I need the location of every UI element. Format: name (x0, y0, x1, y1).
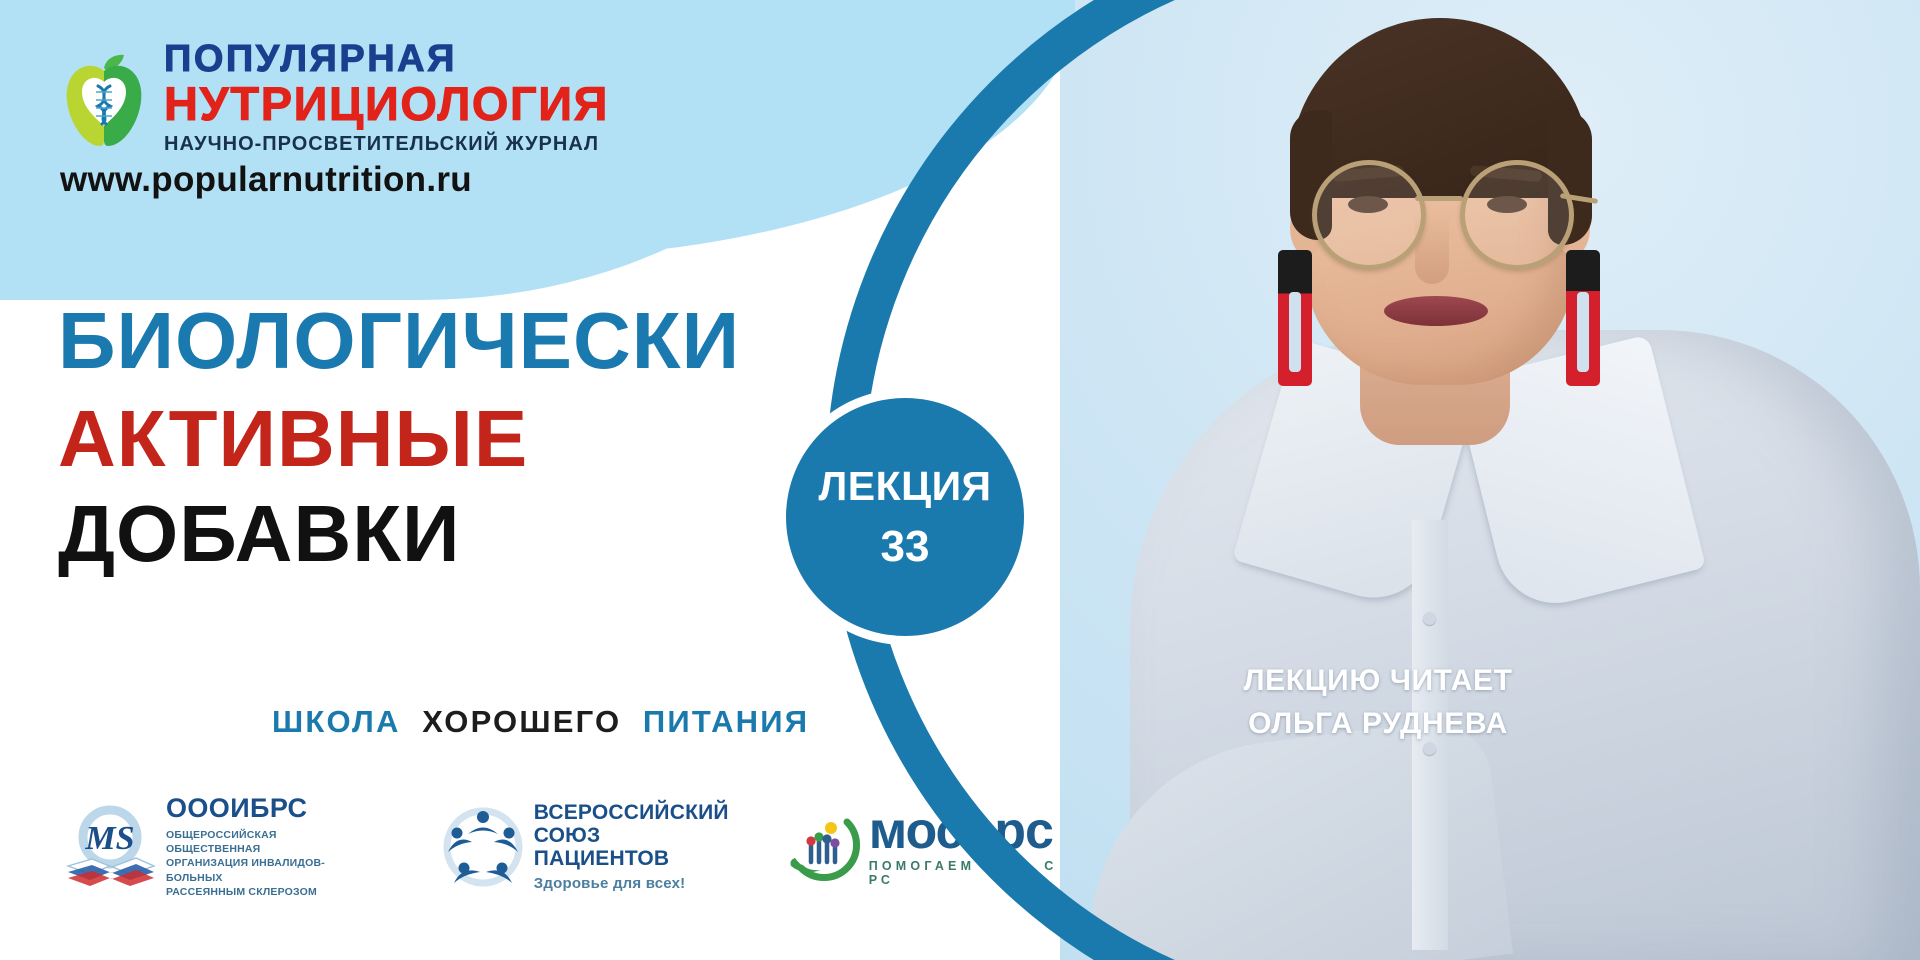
mos-emblem-icon: MS (60, 804, 160, 890)
eyeglass-lens-left (1312, 160, 1426, 270)
partner-3-name: мосорс (869, 807, 1070, 856)
apple-dna-icon (58, 54, 150, 150)
presenter-line-2: ОЛЬГА РУДНЕВА (1128, 703, 1628, 746)
partner-logos: MS ОООИБРС ОБЩЕРОССИЙСКАЯ ОБЩЕСТВЕННАЯ О… (60, 782, 1070, 912)
subtitle-word-2: ХОРОШЕГО (422, 704, 621, 739)
subtitle-word-1: ШКОЛА (272, 704, 401, 739)
lecture-badge[interactable]: ЛЕКЦИЯ 33 (786, 398, 1024, 636)
earring-right-inner (1577, 292, 1589, 372)
lecturer-photo (960, 0, 1920, 960)
magazine-logo[interactable]: ПОПУЛЯРНАЯ НУТРИЦИОЛОГИЯ НАУЧНО-ПРОСВЕТИ… (58, 40, 609, 156)
partner-logo-mosors[interactable]: мосорс ПОМОГАЕМ ЖИТЬ С РС (785, 807, 1070, 886)
partner-2-line-1: ВСЕРОССИЙСКИЙ (534, 802, 729, 825)
partner-2-line-2: СОЮЗ ПАЦИЕНТОВ (534, 825, 729, 870)
eyeglass-bridge (1415, 196, 1463, 201)
eyeglass-lens-right (1460, 160, 1574, 270)
logo-tagline: НАУЧНО-ПРОСВЕТИТЕЛЬСКИЙ ЖУРНАЛ (164, 133, 609, 156)
poster-canvas: ЛЕКЦИЯ 33 ЛЕКЦИЮ ЧИТАЕТ ОЛЬГА РУДНЕВА ПО… (0, 0, 1920, 960)
website-url[interactable]: www.popularnutrition.ru (60, 160, 472, 200)
partner-3-slogan: ПОМОГАЕМ ЖИТЬ С РС (869, 859, 1070, 887)
logo-line-2: НУТРИЦИОЛОГИЯ (164, 80, 609, 129)
lips (1384, 296, 1488, 326)
lecturer-figure (960, 0, 1920, 960)
logo-line-1: ПОПУЛЯРНАЯ (164, 40, 609, 79)
presenter-line-1: ЛЕКЦИЮ ЧИТАЕТ (1128, 660, 1628, 703)
partner-2-line-3: Здоровье для всех! (534, 875, 729, 892)
partner-logo-vsp[interactable]: ВСЕРОССИЙСКИЙ СОЮЗ ПАЦИЕНТОВ Здоровье дл… (440, 802, 729, 891)
poster-headline: БИОЛОГИЧЕСКИ АКТИВНЫЕ ДОБАВКИ (58, 300, 740, 575)
lecture-badge-number: 33 (881, 525, 930, 569)
hand-people-icon (785, 808, 863, 886)
lecture-badge-label: ЛЕКЦИЯ (818, 466, 991, 507)
headline-line-3: ДОБАВКИ (58, 493, 740, 575)
subtitle-word-3: ПИТАНИЯ (643, 704, 809, 739)
people-circle-icon (440, 804, 526, 890)
headline-line-1: БИОЛОГИЧЕСКИ (58, 300, 740, 382)
headline-line-2: АКТИВНЫЕ (58, 398, 740, 480)
earring-left-inner (1289, 292, 1301, 372)
partner-1-desc-1: ОБЩЕРОССИЙСКАЯ ОБЩЕСТВЕННАЯ (166, 828, 368, 856)
partner-1-desc-2: ОРГАНИЗАЦИЯ ИНВАЛИДОВ-БОЛЬНЫХ (166, 856, 368, 884)
presenter-credit: ЛЕКЦИЮ ЧИТАЕТ ОЛЬГА РУДНЕВА (1128, 660, 1628, 745)
svg-text:MS: MS (84, 820, 134, 857)
shirt-button (1423, 612, 1436, 625)
partner-1-abbr: ОООИБРС (166, 795, 368, 822)
partner-logo-ooibrs[interactable]: MS ОООИБРС ОБЩЕРОССИЙСКАЯ ОБЩЕСТВЕННАЯ О… (60, 795, 368, 898)
partner-1-desc-3: РАССЕЯННЫМ СКЛЕРОЗОМ (166, 885, 368, 899)
poster-subtitle: ШКОЛА ХОРОШЕГО ПИТАНИЯ (272, 704, 809, 740)
